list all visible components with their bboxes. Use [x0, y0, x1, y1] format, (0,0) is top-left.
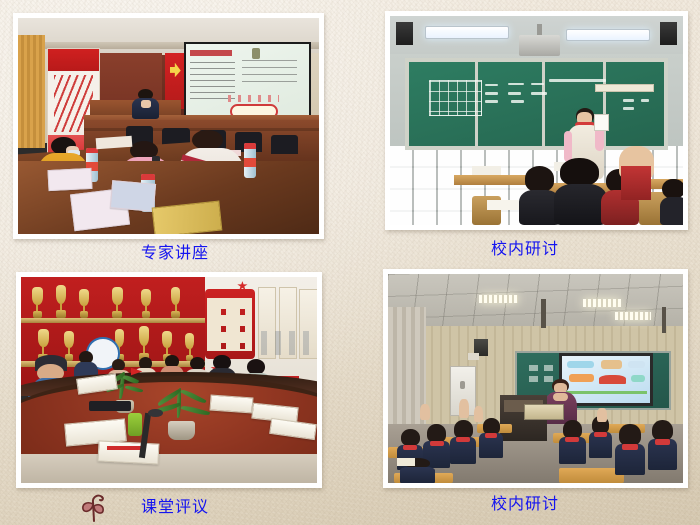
chalk-mark-2 [544, 365, 553, 370]
uniform-collar [403, 445, 417, 450]
cup [38, 329, 49, 347]
uniform-collar [655, 439, 670, 445]
slide-card-5 [599, 375, 626, 384]
leaf [123, 374, 139, 385]
student-person-4 [660, 179, 683, 225]
wall-bracket [468, 353, 480, 359]
uniform-collar [594, 432, 606, 437]
party-emblem-icon [170, 63, 181, 78]
wall-speaker-right [660, 22, 678, 45]
chalk-word-6 [531, 92, 546, 95]
chalk-word-3 [531, 83, 544, 86]
student-person-2 [554, 158, 607, 225]
student-5 [559, 420, 586, 464]
chalk-word-8 [511, 100, 524, 103]
head [563, 420, 582, 438]
student-8 [648, 420, 678, 470]
speaker-face [141, 100, 151, 108]
body [660, 197, 683, 225]
chalk-word-5 [508, 92, 521, 95]
note-paper [96, 136, 133, 149]
photo-school-seminar-smartboard [388, 274, 683, 483]
ceiling-projector [519, 35, 560, 56]
uniform-collar [622, 444, 637, 450]
chalk-word-2 [508, 83, 523, 86]
fluorescent-tube-2 [566, 29, 650, 41]
chalk-mark-1 [529, 365, 538, 370]
slide-question-mark [252, 48, 259, 59]
raised-hand-2 [459, 399, 469, 418]
raised-arm-sleeve [621, 166, 650, 199]
cup [139, 326, 150, 346]
open-notebook-2 [97, 440, 159, 464]
bottle-label [244, 158, 257, 167]
slide-card-3 [628, 361, 646, 368]
ceiling-light-1 [479, 295, 517, 303]
uniform-collar [430, 441, 444, 446]
photo-classroom-review-meeting [21, 277, 317, 483]
student-3 [450, 420, 477, 464]
chalk-heading [549, 79, 605, 82]
honour-board-photos [207, 298, 251, 352]
green-thermos [128, 413, 143, 436]
banner-top-red [48, 49, 99, 70]
handout-paper-3 [48, 168, 93, 192]
scroll-artwork [261, 331, 311, 356]
uniform-collar [565, 437, 579, 442]
photo-expert-lecture [18, 18, 319, 234]
leaf [181, 404, 210, 417]
collage-page: 专家讲座 [0, 0, 700, 525]
photo-frame-3[interactable] [16, 272, 322, 488]
trophy-shelf-1 [21, 318, 205, 323]
head [525, 166, 555, 192]
uniform-collar [485, 433, 497, 438]
chalk-word-7 [485, 100, 498, 103]
cup [79, 289, 89, 305]
photo-frame-2[interactable] [385, 11, 688, 230]
bottle-cap [141, 174, 155, 180]
chair-5 [271, 135, 298, 154]
cup [64, 331, 74, 348]
cup [141, 289, 151, 305]
photo-frame-1[interactable] [13, 13, 324, 239]
slide-card-1 [567, 361, 594, 368]
collage-cell-1: 专家讲座 [0, 0, 350, 263]
desk-paper-1 [472, 166, 501, 174]
uniform-collar [456, 437, 470, 442]
chalk-word-1 [485, 84, 498, 87]
desk-paper [397, 458, 415, 466]
slide-text-right [242, 60, 296, 88]
window-curtain [18, 35, 45, 147]
chalk-char-2 [641, 99, 649, 102]
cup [32, 287, 43, 304]
base [56, 310, 65, 318]
cup [162, 331, 172, 348]
cup [112, 287, 123, 304]
raised-hand-1 [420, 404, 430, 421]
board-divider-2 [542, 62, 545, 146]
floor [21, 454, 317, 483]
ceiling-grid [388, 274, 683, 330]
photo-school-seminar-classroom [390, 16, 683, 225]
trophy-6 [169, 287, 182, 318]
cup [185, 333, 194, 349]
caption-4: 校内研讨 [350, 494, 700, 514]
trophy-3 [77, 289, 90, 318]
ceiling-light-2 [583, 299, 621, 307]
pot [168, 421, 195, 439]
head [619, 424, 640, 445]
trophy-1 [30, 287, 45, 318]
head [401, 429, 420, 447]
base [112, 311, 121, 318]
slide-title-bar [190, 50, 232, 56]
paper-strip-on-board [595, 84, 653, 92]
trophy-2 [54, 285, 69, 318]
head [454, 420, 473, 438]
trophy-5 [139, 289, 152, 318]
body [400, 467, 435, 483]
caption-1: 专家讲座 [0, 243, 350, 263]
chalk-char-3 [623, 107, 633, 110]
desk-paper-3 [487, 200, 519, 210]
microphone-head [148, 409, 163, 417]
cabinet-handle [460, 381, 464, 389]
leaf [124, 384, 142, 393]
fluorescent-tube-1 [425, 26, 509, 38]
bottle-cap [244, 143, 257, 149]
chalk-house-diagram [429, 80, 482, 116]
teacher-book [594, 114, 609, 132]
wall-speaker-left [396, 22, 414, 45]
student-4 [479, 418, 503, 458]
red-bookmark [107, 446, 143, 450]
slide-card-6 [631, 375, 645, 382]
ceiling-hanger-1 [541, 299, 545, 328]
cup [56, 285, 67, 303]
raised-hand-3 [474, 406, 483, 423]
trophy-4 [110, 287, 125, 318]
caption-3: 课堂评议 [0, 497, 350, 517]
leaf [180, 387, 206, 404]
trophy-10 [136, 326, 151, 361]
student-7 [615, 424, 645, 474]
base [171, 311, 180, 318]
collage-cell-3: 课堂评议 [0, 263, 350, 525]
green-chalkboard [405, 58, 669, 150]
equipment-box [524, 404, 564, 421]
keyboard [89, 401, 130, 411]
base [142, 311, 151, 318]
raised-hand-4 [597, 408, 606, 423]
body [554, 184, 607, 225]
collage-cell-2: 校内研讨 [350, 0, 700, 263]
teacher-hands [553, 393, 568, 402]
head [662, 179, 683, 199]
ceiling-hanger-2 [662, 307, 666, 332]
student-6 [589, 416, 613, 458]
slide-footer-bar [566, 391, 647, 395]
water-bottle-3 [244, 143, 257, 178]
head [427, 424, 446, 442]
head [560, 158, 599, 186]
caption-2: 校内研讨 [350, 239, 700, 259]
slide-decor-dots [228, 95, 280, 102]
handout-paper-2 [110, 180, 156, 212]
collage-cell-4: 校内研讨 [350, 263, 700, 525]
base [33, 311, 42, 318]
head [652, 420, 673, 441]
chalk-word-4 [485, 92, 498, 95]
sprout-ornament [78, 492, 112, 522]
speaker-person [132, 89, 159, 119]
cup [171, 287, 181, 304]
slide-card-2 [601, 360, 622, 369]
chalk-char-1 [623, 99, 633, 102]
base [80, 311, 89, 318]
ceiling-light-3 [615, 312, 650, 320]
photo-frame-4[interactable] [383, 269, 688, 488]
chalk-mark-3 [529, 376, 538, 381]
